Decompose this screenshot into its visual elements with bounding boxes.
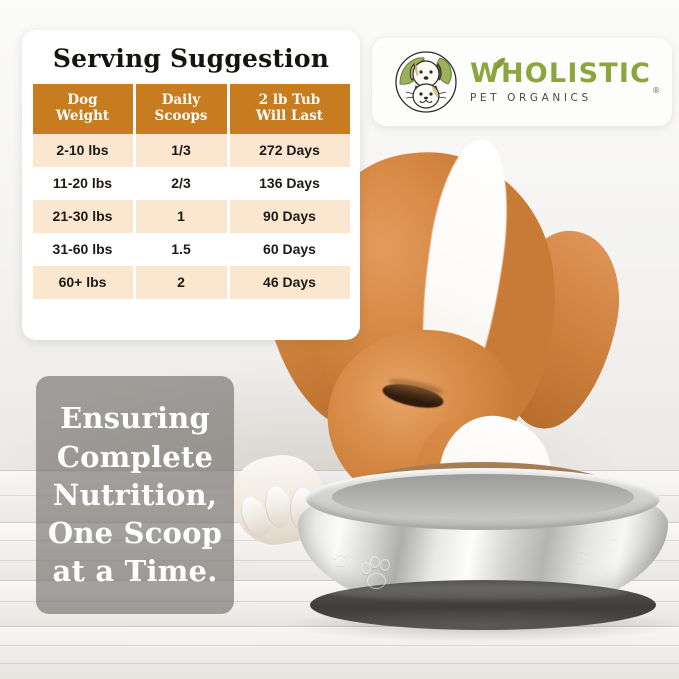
table-row: 11-20 lbs 2/3 136 Days	[33, 167, 350, 200]
cell-daily-scoops: 2	[136, 266, 227, 299]
table-row: 2-10 lbs 1/3 272 Days	[33, 134, 350, 167]
dog-bowl	[298, 462, 668, 652]
cell-duration: 60 Days	[230, 233, 350, 266]
paw-print-icon	[360, 554, 390, 584]
cell-dog-weight: 21-30 lbs	[33, 200, 133, 233]
paw-print-icon	[332, 548, 351, 567]
cell-daily-scoops: 1	[136, 200, 227, 233]
serving-suggestion-table: Dog Weight Daily Scoops 2 lb Tub Will La…	[30, 84, 353, 299]
table-row: 60+ lbs 2 46 Days	[33, 266, 350, 299]
tagline-line: One Scoop	[48, 514, 222, 552]
cell-daily-scoops: 1.5	[136, 233, 227, 266]
table-row: 21-30 lbs 1 90 Days	[33, 200, 350, 233]
brand-name: WHOLISTIC	[470, 60, 651, 87]
cell-daily-scoops: 1/3	[136, 134, 227, 167]
tagline-overlay: Ensuring Complete Nutrition, One Scoop a…	[36, 376, 234, 614]
paw-print-icon	[606, 534, 620, 548]
leaf-icon	[492, 50, 507, 66]
cell-duration: 136 Days	[230, 167, 350, 200]
tagline-line: Nutrition,	[53, 476, 217, 514]
serving-suggestion-card: Serving Suggestion Dog Weight Daily Scoo…	[22, 30, 360, 340]
cell-dog-weight: 31-60 lbs	[33, 233, 133, 266]
table-row: 31-60 lbs 1.5 60 Days	[33, 233, 350, 266]
dog-cat-leaves-circle-icon	[394, 50, 458, 114]
wood-grain-line	[0, 663, 679, 664]
column-header-tub-duration: 2 lb Tub Will Last	[230, 84, 350, 134]
page-title: Serving Suggestion	[22, 44, 360, 73]
bowl-cast-shadow	[288, 608, 678, 642]
brand-wordmark-group: WHOLISTIC PET ORGANICS ®	[470, 60, 651, 104]
brand-tagline: PET ORGANICS ®	[470, 92, 651, 104]
cell-duration: 90 Days	[230, 200, 350, 233]
registered-trademark-symbol: ®	[652, 86, 660, 95]
tagline-line: at a Time.	[53, 552, 218, 590]
column-header-daily-scoops: Daily Scoops	[136, 84, 227, 134]
product-infographic: Serving Suggestion Dog Weight Daily Scoo…	[0, 0, 679, 679]
cell-daily-scoops: 2/3	[136, 167, 227, 200]
paw-print-icon	[574, 546, 589, 561]
bowl-interior	[332, 474, 634, 520]
cell-dog-weight: 11-20 lbs	[33, 167, 133, 200]
tagline-line: Complete	[57, 438, 213, 476]
cell-dog-weight: 2-10 lbs	[33, 134, 133, 167]
tagline-line: Ensuring	[60, 399, 210, 437]
brand-logo-card: WHOLISTIC PET ORGANICS ®	[372, 38, 672, 126]
cell-dog-weight: 60+ lbs	[33, 266, 133, 299]
cell-duration: 272 Days	[230, 134, 350, 167]
cell-duration: 46 Days	[230, 266, 350, 299]
column-header-dog-weight: Dog Weight	[33, 84, 133, 134]
brand-tagline-text: PET ORGANICS	[470, 92, 592, 104]
table-header-row: Dog Weight Daily Scoops 2 lb Tub Will La…	[33, 84, 350, 134]
